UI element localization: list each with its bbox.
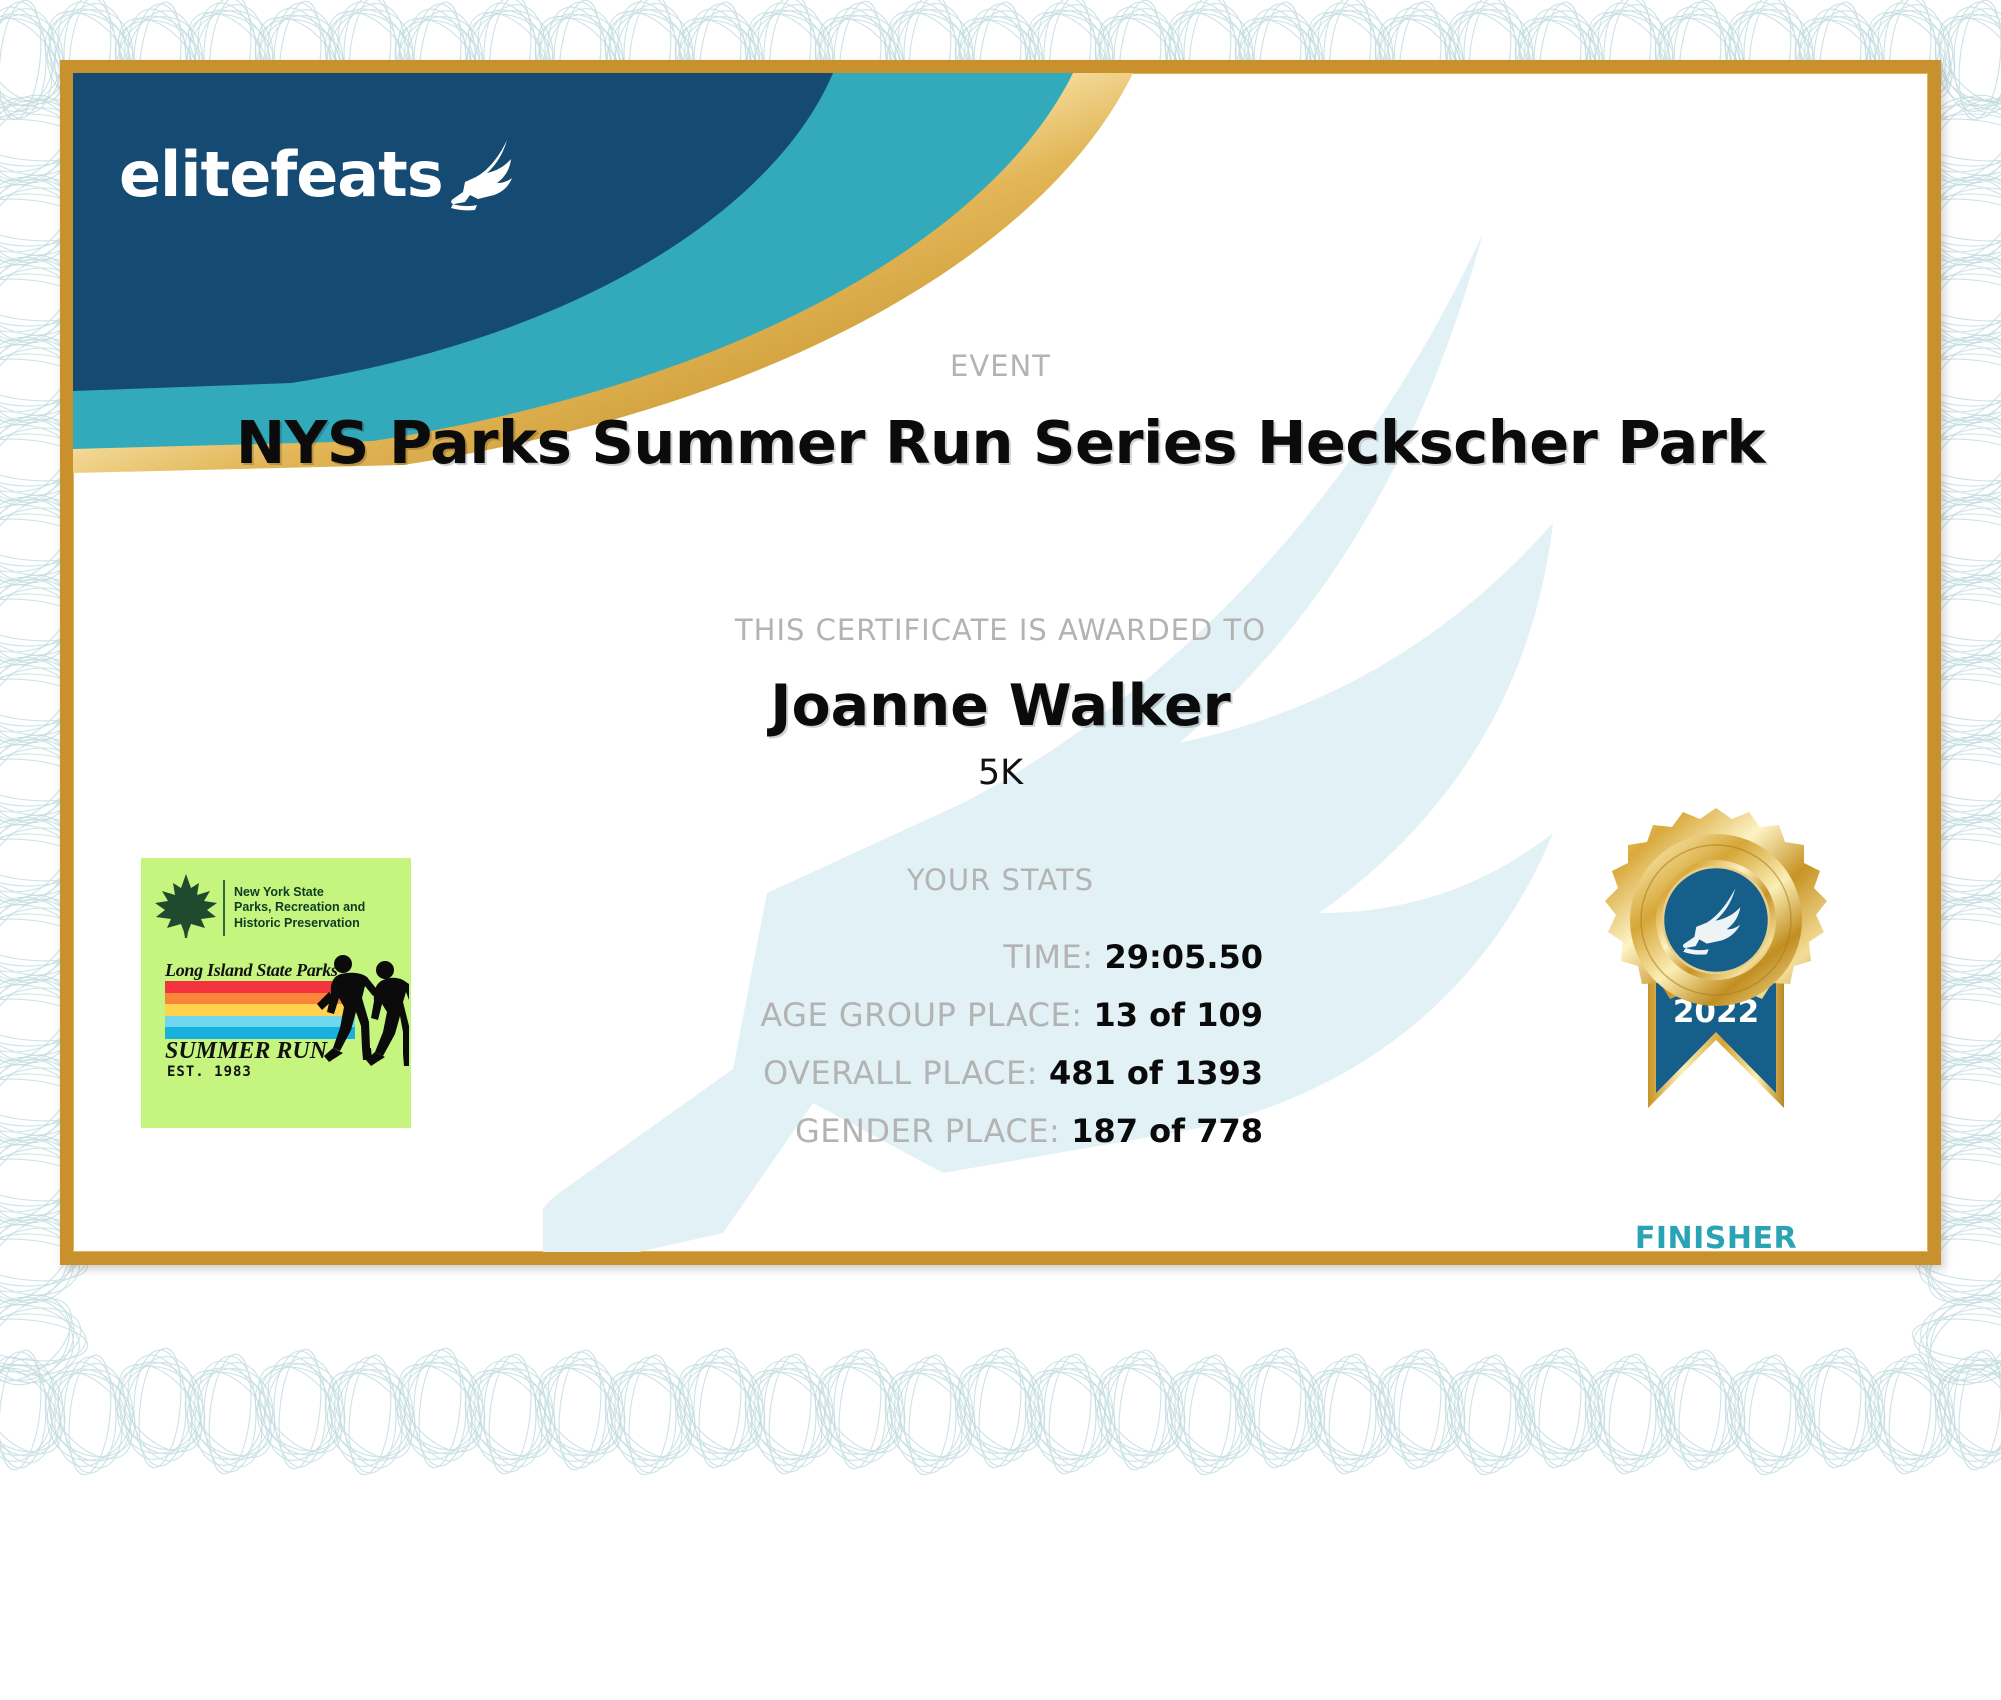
awarded-to-label: THIS CERTIFICATE IS AWARDED TO: [73, 613, 1928, 647]
stat-row-gender-place: GENDER PLACE: 187 of 778: [503, 1112, 1263, 1150]
maple-leaf-icon: [153, 872, 219, 944]
stat-key: AGE GROUP PLACE:: [760, 996, 1082, 1034]
runners-silhouette-icon: [313, 952, 409, 1078]
nys-parks-lockup: New York State Parks, Recreation and His…: [141, 858, 411, 948]
stat-row-time: TIME: 29:05.50: [503, 938, 1263, 976]
gold-starburst-medal-icon: 2022: [1566, 808, 1866, 1228]
agency-line-1: New York State: [234, 885, 365, 900]
agency-line-3: Historic Preservation: [234, 916, 365, 931]
agency-name: New York State Parks, Recreation and His…: [234, 885, 365, 931]
stat-value: 13 of 109: [1093, 996, 1263, 1034]
logo-divider: [223, 880, 225, 936]
finisher-medal: 2022: [1566, 808, 1866, 1265]
medal-caption: FINISHER CERTIFICATE: [1566, 1222, 1866, 1265]
sponsor-logo: New York State Parks, Recreation and His…: [141, 858, 411, 1128]
stat-row-overall-place: OVERALL PLACE: 481 of 1393: [503, 1054, 1263, 1092]
stat-value: 29:05.50: [1104, 938, 1263, 976]
certificate-frame: elitefeats EVENT NYS Parks Summer Run: [60, 60, 1941, 1265]
stat-value: 481 of 1393: [1049, 1054, 1263, 1092]
agency-line-2: Parks, Recreation and: [234, 900, 365, 915]
stat-key: TIME:: [1003, 938, 1093, 976]
certificate-page: elitefeats EVENT NYS Parks Summer Run: [0, 0, 2001, 1700]
stat-key: OVERALL PLACE:: [763, 1054, 1038, 1092]
awardee-name: Joanne Walker: [73, 673, 1928, 739]
stats-list: TIME: 29:05.50 AGE GROUP PLACE: 13 of 10…: [503, 938, 1263, 1170]
stat-value: 187 of 778: [1071, 1112, 1263, 1150]
summer-run-lockup: Long Island State Parks SUMMER RUN EST. …: [141, 960, 411, 1080]
stat-key: GENDER PLACE:: [795, 1112, 1060, 1150]
race-distance: 5K: [73, 753, 1928, 793]
medal-caption-line-2: CERTIFICATE: [1566, 1257, 1866, 1266]
stat-row-age-group-place: AGE GROUP PLACE: 13 of 109: [503, 996, 1263, 1034]
event-title: NYS Parks Summer Run Series Heckscher Pa…: [73, 408, 1928, 477]
event-label: EVENT: [73, 349, 1928, 383]
